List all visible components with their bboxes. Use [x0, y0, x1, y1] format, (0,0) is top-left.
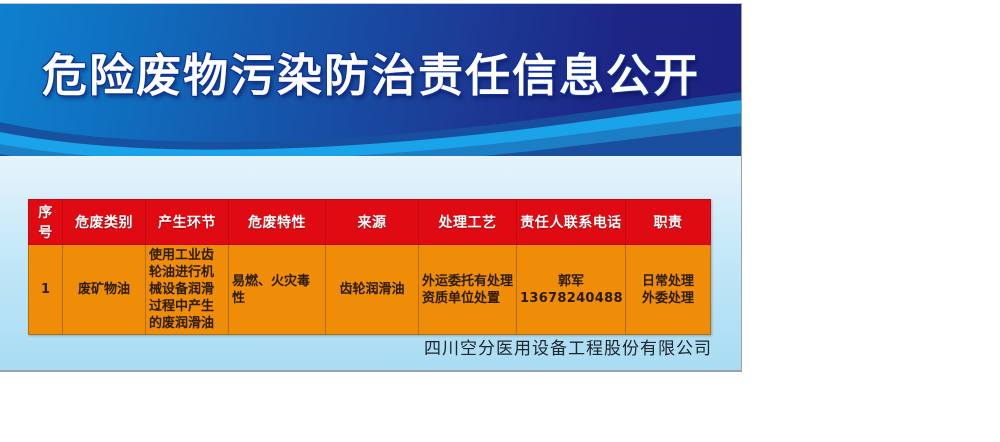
duty-line-2: 外委处理 [629, 290, 707, 307]
poster-title-container: 危险废物污染防治责任信息公开 [0, 48, 742, 104]
column-header-contact: 责任人联系电话 [517, 200, 626, 245]
column-header-characteristic: 危废特性 [229, 200, 326, 245]
column-header-duty: 职责 [626, 200, 711, 245]
duty-line-1: 日常处理 [629, 273, 707, 290]
table-row: 1 废矿物油 使用工业齿轮油进行机械设备润滑过程中产生的废润滑油 易燃、火灾毒性… [29, 245, 711, 335]
contact-person-name: 郭军 [520, 273, 622, 290]
cell-characteristic: 易燃、火灾毒性 [229, 245, 326, 335]
table-header: 序号 危废类别 产生环节 危废特性 来源 处理工艺 责任人联系电话 职责 [29, 200, 711, 245]
table-header-row: 序号 危废类别 产生环节 危废特性 来源 处理工艺 责任人联系电话 职责 [29, 200, 711, 245]
cell-stage: 使用工业齿轮油进行机械设备润滑过程中产生的废润滑油 [146, 245, 229, 335]
cell-source: 齿轮润滑油 [326, 245, 419, 335]
column-header-stage: 产生环节 [146, 200, 229, 245]
cell-contact: 郭军 13678240488 [517, 245, 626, 335]
cell-category: 废矿物油 [63, 245, 146, 335]
company-name: 四川空分医用设备工程股份有限公司 [0, 334, 712, 359]
contact-person-phone: 13678240488 [520, 290, 622, 307]
column-header-category: 危废类别 [63, 200, 146, 245]
poster-title: 危险废物污染防治责任信息公开 [42, 48, 700, 104]
cell-seq: 1 [29, 245, 63, 335]
hazardous-waste-table: 序号 危废类别 产生环节 危废特性 来源 处理工艺 责任人联系电话 职责 1 废… [28, 199, 711, 335]
poster-board: 危险废物污染防治责任信息公开 序号 危废类别 产生环节 危废特性 来源 处理工艺… [0, 3, 742, 372]
hazardous-waste-table-container: 序号 危废类别 产生环节 危废特性 来源 处理工艺 责任人联系电话 职责 1 废… [28, 199, 710, 335]
table-body: 1 废矿物油 使用工业齿轮油进行机械设备润滑过程中产生的废润滑油 易燃、火灾毒性… [29, 245, 711, 335]
cell-duty: 日常处理 外委处理 [626, 245, 711, 335]
poster-banner: 危险废物污染防治责任信息公开 [0, 4, 742, 156]
cell-process: 外运委托有处理资质单位处置 [419, 245, 517, 335]
column-header-seq: 序号 [29, 200, 63, 245]
column-header-source: 来源 [326, 200, 419, 245]
column-header-process: 处理工艺 [419, 200, 517, 245]
